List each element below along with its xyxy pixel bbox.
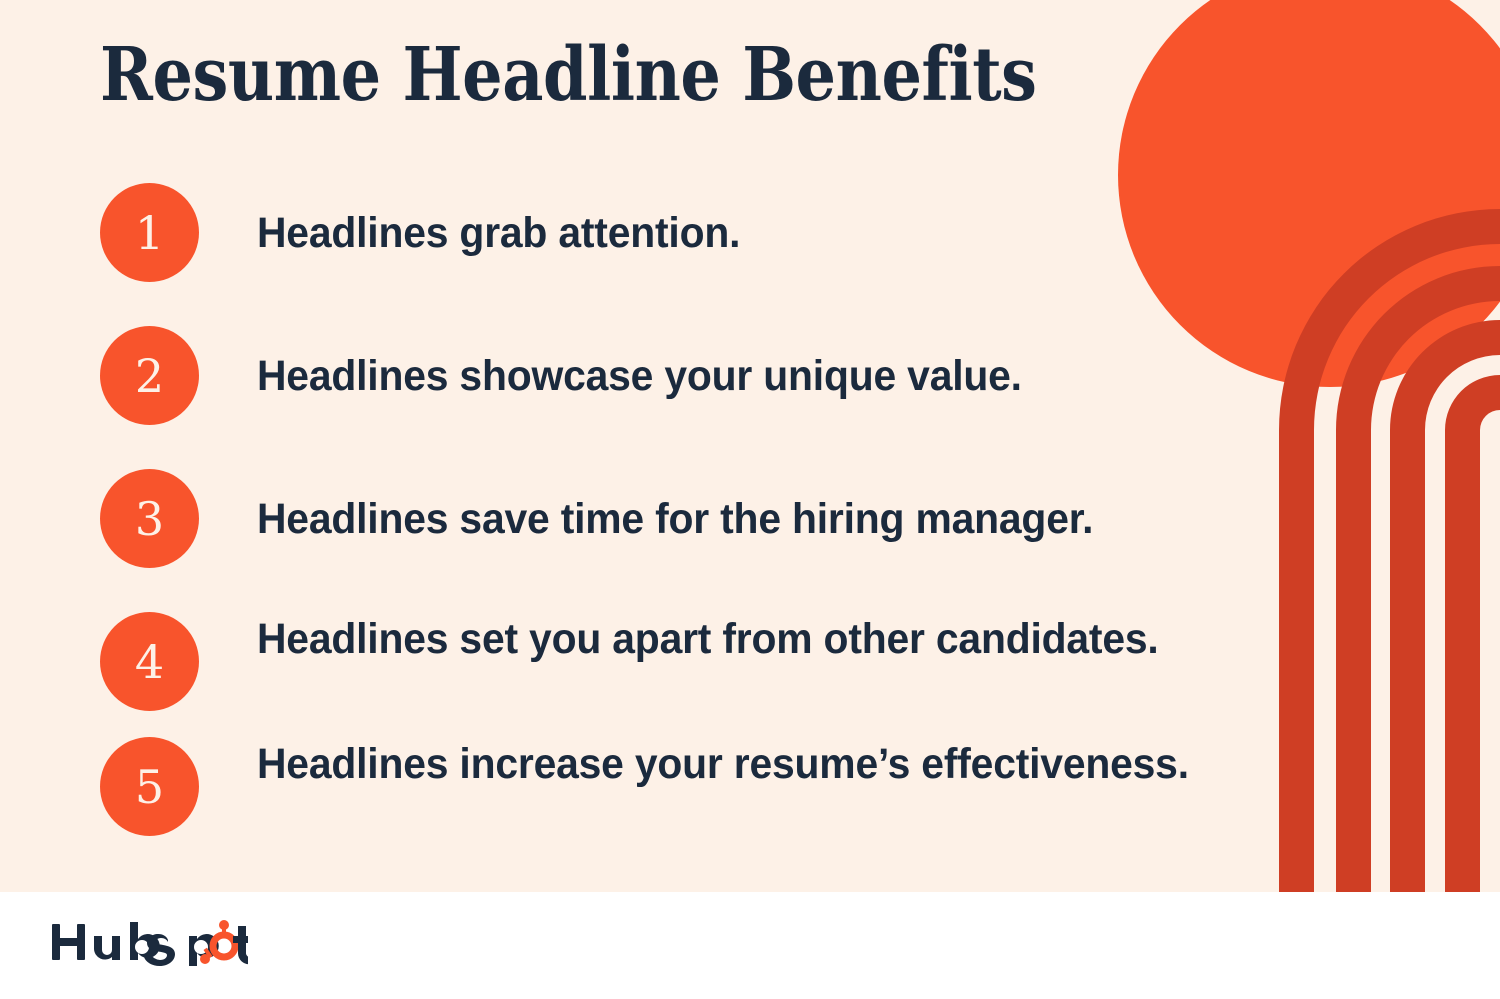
- list-item: 2 Headlines showcase your unique value.: [100, 326, 1290, 425]
- arc-band-4: [1445, 375, 1500, 892]
- list-item-label: Headlines set you apart from other candi…: [257, 612, 1238, 665]
- list-item: 3 Headlines save time for the hiring man…: [100, 469, 1290, 568]
- hubspot-wordmark: [52, 922, 219, 966]
- list-item-number-badge: 5: [100, 737, 199, 836]
- arc-band-3: [1390, 320, 1500, 892]
- list-item-number-badge: 4: [100, 612, 199, 711]
- footer-bar: [0, 892, 1500, 999]
- poster-canvas: Resume Headline Benefits 1 Headlines gra…: [0, 0, 1500, 892]
- hubspot-logo: [48, 914, 248, 970]
- list-item: 4 Headlines set you apart from other can…: [100, 612, 1290, 711]
- list-item: 1 Headlines grab attention.: [100, 183, 1290, 282]
- benefits-list: 1 Headlines grab attention. 2 Headlines …: [100, 183, 1290, 862]
- page-title: Resume Headline Benefits: [100, 38, 1037, 112]
- list-item-number-badge: 2: [100, 326, 199, 425]
- arc-band-2: [1336, 266, 1500, 892]
- arc-band-1: [1279, 209, 1500, 892]
- list-item-number-badge: 3: [100, 469, 199, 568]
- list-item-label: Headlines grab attention.: [257, 206, 1238, 259]
- list-item-label: Headlines increase your resume’s effecti…: [257, 737, 1238, 790]
- list-item: 5 Headlines increase your resume’s effec…: [100, 737, 1290, 836]
- list-item-label: Headlines save time for the hiring manag…: [257, 492, 1238, 545]
- hubspot-sprocket-icon: [200, 920, 235, 964]
- list-item-number-badge: 1: [100, 183, 199, 282]
- infographic-poster: Resume Headline Benefits 1 Headlines gra…: [0, 0, 1500, 999]
- list-item-label: Headlines showcase your unique value.: [257, 349, 1238, 402]
